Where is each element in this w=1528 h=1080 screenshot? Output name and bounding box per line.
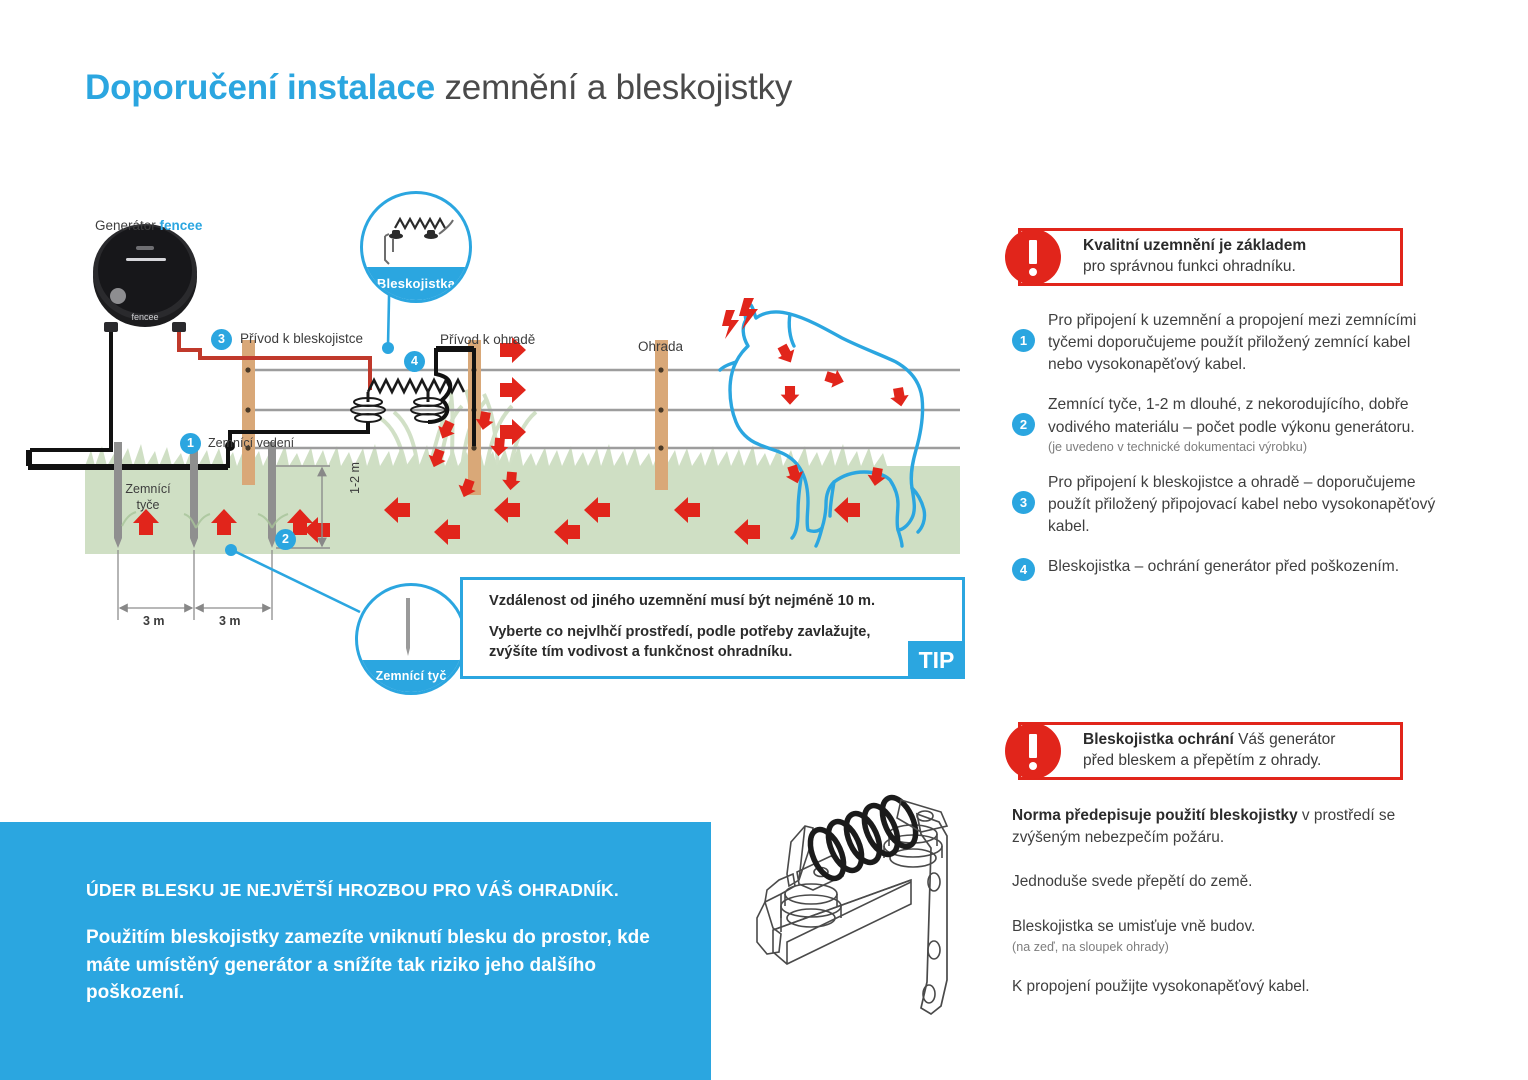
label-span-b: 3 m xyxy=(219,614,241,628)
exclamation-icon xyxy=(1005,229,1061,285)
exclamation-icon xyxy=(1005,723,1061,779)
generator-label-text: Generátor xyxy=(95,218,160,233)
paragraph-subtext: (na zeď, na sloupek ohrady) xyxy=(1012,938,1432,956)
generator-device: fencee xyxy=(93,224,197,332)
page-title-highlight: Doporučení instalace xyxy=(85,68,435,107)
paragraph: Norma předepisuje použití bleskojistky v… xyxy=(1012,805,1432,849)
lightning-bolt-icon xyxy=(722,298,758,339)
badge-2: 2 xyxy=(275,529,296,550)
fence-wires xyxy=(250,370,960,448)
label-span-a: 3 m xyxy=(143,614,165,628)
warning-text-arrester: Bleskojistka ochrání Váš generátor před … xyxy=(1083,730,1335,772)
arrester-drawing-svg xyxy=(735,782,1005,1022)
point-text: Pro připojení k bleskojistce a ohradě – … xyxy=(1048,472,1444,538)
tip-badge: TIP xyxy=(908,641,965,679)
paragraph: Bleskojistka se umisťuje vně budov. (na … xyxy=(1012,916,1432,956)
badge-4: 4 xyxy=(404,351,425,372)
arrester-product-drawing xyxy=(735,782,1005,1022)
warning1-bold: Kvalitní uzemnění je základem xyxy=(1083,237,1306,254)
point-number: 2 xyxy=(1012,413,1035,436)
paragraph-text: Jednoduše svede přepětí do země. xyxy=(1012,873,1252,890)
label-privod-ohrade: Přívod k ohradě xyxy=(440,332,535,347)
warning-box-arrester: Bleskojistka ochrání Váš generátor před … xyxy=(1018,722,1403,780)
point-text: Pro připojení k uzemnění a propojení mez… xyxy=(1048,310,1444,376)
point-text: Zemnící tyče, 1-2 m dlouhé, z nekorodují… xyxy=(1048,394,1444,438)
list-item: 1 Pro připojení k uzemnění a propojení m… xyxy=(1012,310,1444,376)
tip-line-1: Vzdálenost od jiného uzemnění musí být n… xyxy=(489,592,919,611)
point-number: 4 xyxy=(1012,558,1035,581)
warning-box-grounding: Kvalitní uzemnění je základem pro správn… xyxy=(1018,228,1403,286)
blue-highlight-panel: ÚDER BLESKU JE NEJVĚTŠÍ HROZBOU PRO VÁŠ … xyxy=(0,822,711,1080)
paragraph: K propojení použijte vysokonapěťový kabe… xyxy=(1012,976,1432,998)
warning2-line2: před bleskem a přepětím z ohrady. xyxy=(1083,752,1321,769)
callout-bleskojistka: Bleskojistka xyxy=(360,191,472,303)
warning2-bold: Bleskojistka ochrání xyxy=(1083,731,1234,748)
numbered-points-list: 1 Pro připojení k uzemnění a propojení m… xyxy=(1012,310,1444,596)
point-number: 3 xyxy=(1012,491,1035,514)
blue-panel-headline: ÚDER BLESKU JE NEJVĚTŠÍ HROZBOU PRO VÁŠ … xyxy=(86,880,686,901)
point-number: 1 xyxy=(1012,329,1035,352)
tip-box: Vzdálenost od jiného uzemnění musí být n… xyxy=(460,577,965,679)
callout-zemnici-tyc: Zemnící tyč xyxy=(355,583,467,695)
tip-line-2: Vyberte co nejvlhčí prostředí, podle pot… xyxy=(489,623,919,662)
warning2-rest: Váš generátor xyxy=(1234,731,1336,748)
point-text: Bleskojistka – ochrání generátor před po… xyxy=(1048,556,1444,578)
generator-brand: fencee xyxy=(160,218,203,233)
warning1-rest: pro správnou funkci ohradníku. xyxy=(1083,258,1296,275)
paragraph-text: Bleskojistka se umisťuje vně budov. xyxy=(1012,918,1255,935)
arrester-paragraphs: Norma předepisuje použití bleskojistky v… xyxy=(1012,805,1432,1020)
paragraph-text: K propojení použijte vysokonapěťový kabe… xyxy=(1012,978,1310,995)
callout-zemnici-tyc-caption: Zemnící tyč xyxy=(358,660,464,692)
label-depth: 1-2 m xyxy=(348,462,362,494)
point-subtext: (je uvedeno v technické dokumentaci výro… xyxy=(1048,440,1444,454)
label-zemnici-vedeni: Zemnící vedení xyxy=(208,436,294,450)
callout-bleskojistka-caption: Bleskojistka xyxy=(363,267,469,300)
tip-text: Vzdálenost od jiného uzemnění musí být n… xyxy=(489,592,919,674)
svg-text:fencee: fencee xyxy=(131,312,158,322)
current-right-arrows xyxy=(500,337,526,445)
list-item: 4 Bleskojistka – ochrání generátor před … xyxy=(1012,556,1444,578)
label-privod-bleskojistce: Přívod k bleskojistce xyxy=(240,331,363,346)
earth-cable-black xyxy=(30,332,111,450)
paragraph-bold: Norma předepisuje použití bleskojistky xyxy=(1012,807,1298,824)
warning-text-grounding: Kvalitní uzemnění je základem pro správn… xyxy=(1083,236,1306,278)
blue-panel-body: Použitím bleskojistky zamezíte vniknutí … xyxy=(86,924,676,1007)
label-ohrada: Ohrada xyxy=(638,339,683,354)
badge-1: 1 xyxy=(180,433,201,454)
page-title-rest: zemnění a bleskojistky xyxy=(435,68,792,107)
spacing-dimension xyxy=(118,550,272,620)
list-item: 2 Zemnící tyče, 1-2 m dlouhé, z nekorodu… xyxy=(1012,394,1444,453)
label-zemnici-tyce: Zemnící tyče xyxy=(113,482,183,513)
list-item: 3 Pro připojení k bleskojistce a ohradě … xyxy=(1012,472,1444,538)
page-title: Doporučení instalace zemnění a bleskojis… xyxy=(85,68,792,108)
badge-3: 3 xyxy=(211,329,232,350)
paragraph: Jednoduše svede přepětí do země. xyxy=(1012,871,1432,893)
generator-label: Generátor fencee xyxy=(95,218,202,233)
callout-leader-tyc xyxy=(232,550,360,612)
